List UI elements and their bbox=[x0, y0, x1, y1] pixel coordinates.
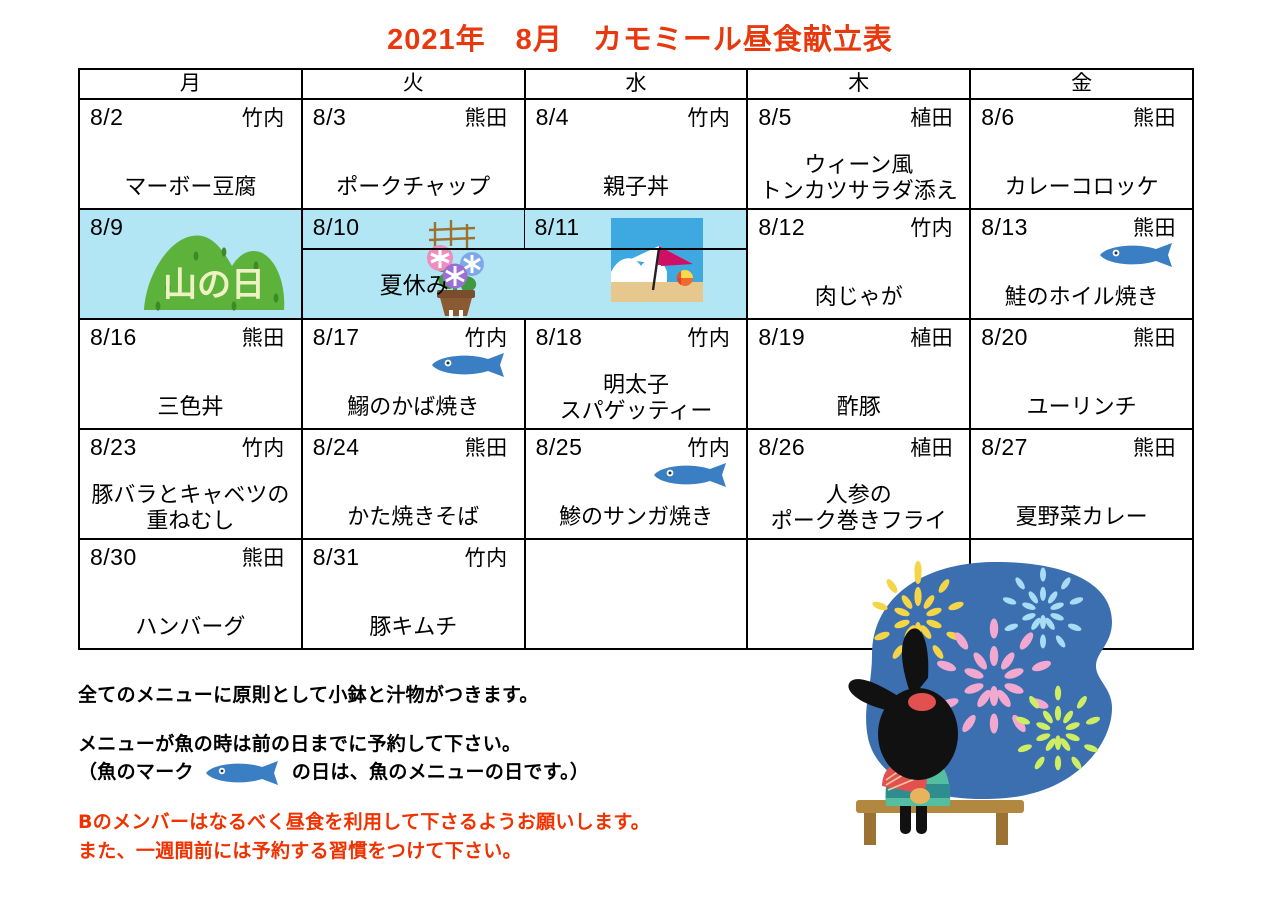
calendar-cell-menu: 肉じゃが bbox=[748, 284, 969, 310]
calendar-cell-staff: 熊田 bbox=[1133, 214, 1182, 244]
calendar-cell-date: 8/10 bbox=[313, 212, 360, 242]
calendar-cell-inner: 8/13熊田 鮭のホイル焼き bbox=[971, 210, 1192, 318]
calendar-cell-menu: ハンバーグ bbox=[80, 614, 301, 640]
calendar-cell-8-30[interactable]: 8/30熊田ハンバーグ bbox=[79, 539, 302, 649]
weekday-header-tue: 火 bbox=[302, 69, 525, 99]
calendar-cell-inner: 8/24熊田かた焼きそば bbox=[303, 430, 524, 538]
calendar-cell-menu: 明太子 スパゲッティー bbox=[526, 372, 747, 424]
calendar-cell-8-19[interactable]: 8/19植田酢豚 bbox=[747, 319, 970, 429]
calendar-cell-menu: 三色丼 bbox=[80, 394, 301, 420]
calendar-cell-header: 8/12竹内 bbox=[758, 212, 959, 244]
calendar-cell-inner: 8/18竹内明太子 スパゲッティー bbox=[526, 320, 747, 428]
calendar-cell-inner: 8/2竹内マーボー豆腐 bbox=[80, 100, 301, 208]
calendar-cell-date: 8/5 bbox=[758, 102, 791, 132]
mountain-day-icon: 山の日 bbox=[138, 222, 290, 314]
fish-icon bbox=[1094, 242, 1180, 268]
calendar-cell-8-16[interactable]: 8/16熊田三色丼 bbox=[79, 319, 302, 429]
calendar-cell-date: 8/31 bbox=[313, 542, 360, 572]
calendar-cell-header: 8/13熊田 bbox=[981, 212, 1182, 244]
note-red-line-1: Bのメンバーはなるべく昼食を利用して下さるようお願いします。 bbox=[78, 808, 818, 837]
notes-red-section: Bのメンバーはなるべく昼食を利用して下さるようお願いします。 また、一週間前には… bbox=[78, 808, 818, 867]
rabbit-fireworks-illustration bbox=[800, 548, 1200, 878]
calendar-cell-empty bbox=[525, 539, 748, 649]
calendar-cell-inner: 8/26植田人参の ポーク巻きフライ bbox=[748, 430, 969, 538]
calendar-week-row: 8/23竹内豚バラとキャベツの 重ねむし8/24熊田かた焼きそば8/25竹内 鯵… bbox=[79, 429, 1193, 539]
calendar-cell-8-6[interactable]: 8/6熊田カレーコロッケ bbox=[970, 99, 1193, 209]
calendar-cell-menu: 親子丼 bbox=[526, 174, 747, 200]
calendar-cell-8-23[interactable]: 8/23竹内豚バラとキャベツの 重ねむし bbox=[79, 429, 302, 539]
calendar-cell-staff: 植田 bbox=[910, 324, 959, 354]
calendar-cell-staff: 竹内 bbox=[687, 104, 736, 134]
calendar-cell-header: 8/5植田 bbox=[758, 102, 959, 134]
calendar-cell-header: 8/18竹内 bbox=[536, 322, 737, 354]
calendar-cell-menu: ユーリンチ bbox=[971, 394, 1192, 420]
calendar-cell-header: 8/30熊田 bbox=[90, 542, 291, 574]
calendar-cell-inner: 8/19植田酢豚 bbox=[748, 320, 969, 428]
note-line-2: メニューが魚の時は前の日までに予約して下さい。 bbox=[78, 730, 778, 759]
note-red-line-2: また、一週間前には予約する習慣をつけて下さい。 bbox=[78, 837, 818, 866]
calendar-cell-staff: 熊田 bbox=[465, 434, 514, 464]
calendar-cell-inner: 8/25竹内 鯵のサンガ焼き bbox=[526, 430, 747, 538]
calendar-cell-staff: 熊田 bbox=[242, 544, 291, 574]
calendar-cell-header: 8/3熊田 bbox=[313, 102, 514, 134]
calendar-cell-header: 8/26植田 bbox=[758, 432, 959, 464]
weekday-header-thu: 木 bbox=[747, 69, 970, 99]
calendar-cell-inner: 8/9 山の日 bbox=[80, 210, 301, 318]
calendar-cell-staff: 竹内 bbox=[910, 214, 959, 244]
calendar-week-row: 8/9 山の日 8/10 夏休み8/11 bbox=[79, 209, 1193, 319]
calendar-cell-header: 8/16熊田 bbox=[90, 322, 291, 354]
calendar-cell-8-10[interactable]: 8/10 夏休み bbox=[302, 209, 525, 319]
notes-section: 全てのメニューに原則として小鉢と汁物がつきます。 メニューが魚の時は前の日までに… bbox=[78, 681, 778, 807]
note-fish-reservation: メニューが魚の時は前の日までに予約して下さい。 （魚のマーク の日は、魚のメニュ… bbox=[78, 730, 778, 787]
calendar-cell-date: 8/3 bbox=[313, 102, 346, 132]
calendar-cell-8-31[interactable]: 8/31竹内豚キムチ bbox=[302, 539, 525, 649]
calendar-cell-staff: 熊田 bbox=[1133, 104, 1182, 134]
calendar-cell-inner: 8/16熊田三色丼 bbox=[80, 320, 301, 428]
calendar-cell-header: 8/23竹内 bbox=[90, 432, 291, 464]
calendar-cell-inner: 8/5植田ウィーン風 トンカツサラダ添え bbox=[748, 100, 969, 208]
calendar-cell-8-20[interactable]: 8/20熊田ユーリンチ bbox=[970, 319, 1193, 429]
calendar-cell-menu: 鮭のホイル焼き bbox=[971, 284, 1192, 310]
note-line-1: 全てのメニューに原則として小鉢と汁物がつきます。 bbox=[78, 681, 778, 710]
calendar-cell-8-24[interactable]: 8/24熊田かた焼きそば bbox=[302, 429, 525, 539]
calendar-cell-staff: 植田 bbox=[910, 434, 959, 464]
calendar-cell-inner: 8/12竹内肉じゃが bbox=[748, 210, 969, 318]
calendar-cell-inner: 8/3熊田ポークチャップ bbox=[303, 100, 524, 208]
calendar-cell-staff: 植田 bbox=[910, 104, 959, 134]
calendar-cell-header: 8/2竹内 bbox=[90, 102, 291, 134]
fish-icon bbox=[200, 760, 286, 786]
calendar-cell-8-2[interactable]: 8/2竹内マーボー豆腐 bbox=[79, 99, 302, 209]
calendar-cell-header: 8/19植田 bbox=[758, 322, 959, 354]
weekday-header-mon: 月 bbox=[79, 69, 302, 99]
calendar-cell-staff: 竹内 bbox=[242, 104, 291, 134]
calendar-cell-date: 8/13 bbox=[981, 212, 1028, 242]
calendar-cell-8-25[interactable]: 8/25竹内 鯵のサンガ焼き bbox=[525, 429, 748, 539]
note-line-3: （魚のマーク の日は、魚のメニューの日です。） bbox=[78, 758, 778, 787]
calendar-week-row: 8/2竹内マーボー豆腐8/3熊田ポークチャップ8/4竹内親子丼8/5植田ウィーン… bbox=[79, 99, 1193, 209]
calendar-cell-inner: 8/27熊田夏野菜カレー bbox=[971, 430, 1192, 538]
note-line-3-before: （魚のマーク bbox=[78, 761, 194, 783]
calendar-cell-date: 8/11 bbox=[535, 212, 580, 242]
calendar-cell-date: 8/23 bbox=[90, 432, 137, 462]
calendar-cell-8-3[interactable]: 8/3熊田ポークチャップ bbox=[302, 99, 525, 209]
merged-cell-rule bbox=[303, 248, 525, 250]
calendar-cell-header: 8/20熊田 bbox=[981, 322, 1182, 354]
calendar-cell-menu: 鰯のかば焼き bbox=[303, 394, 524, 420]
calendar-cell-staff: 竹内 bbox=[687, 434, 736, 464]
calendar-cell-8-4[interactable]: 8/4竹内親子丼 bbox=[525, 99, 748, 209]
calendar-cell-header: 8/31竹内 bbox=[313, 542, 514, 574]
calendar-week-row: 8/16熊田三色丼8/17竹内 鰯のかば焼き8/18竹内明太子 スパゲッティー8… bbox=[79, 319, 1193, 429]
fish-icon bbox=[426, 352, 512, 378]
calendar-cell-inner: 8/11 bbox=[525, 210, 747, 318]
calendar-cell-date: 8/26 bbox=[758, 432, 805, 462]
calendar-cell-8-5[interactable]: 8/5植田ウィーン風 トンカツサラダ添え bbox=[747, 99, 970, 209]
fish-icon bbox=[648, 462, 734, 488]
calendar-cell-staff: 竹内 bbox=[687, 324, 736, 354]
beach-parasol-icon bbox=[609, 216, 705, 304]
calendar-cell-menu: 夏野菜カレー bbox=[971, 504, 1192, 530]
calendar-cell-inner: 8/4竹内親子丼 bbox=[526, 100, 747, 208]
calendar-cell-inner: 8/20熊田ユーリンチ bbox=[971, 320, 1192, 428]
calendar-cell-inner: 8/17竹内 鰯のかば焼き bbox=[303, 320, 524, 428]
note-line-3-after: の日は、魚のメニューの日です。） bbox=[292, 761, 589, 783]
calendar-cell-menu: 豚キムチ bbox=[303, 614, 524, 640]
calendar-cell-8-9[interactable]: 8/9 山の日 bbox=[79, 209, 302, 319]
calendar-cell-inner: 8/23竹内豚バラとキャベツの 重ねむし bbox=[80, 430, 301, 538]
calendar-cell-staff: 熊田 bbox=[242, 324, 291, 354]
calendar-cell-menu: ポークチャップ bbox=[303, 174, 524, 200]
calendar-cell-menu: 鯵のサンガ焼き bbox=[526, 504, 747, 530]
calendar-cell-inner: 8/6熊田カレーコロッケ bbox=[971, 100, 1192, 208]
calendar-cell-staff: 熊田 bbox=[1133, 434, 1182, 464]
note-side-dishes: 全てのメニューに原則として小鉢と汁物がつきます。 bbox=[78, 681, 778, 710]
calendar-cell-date: 8/18 bbox=[536, 322, 583, 352]
calendar-cell-header: 8/17竹内 bbox=[313, 322, 514, 354]
calendar-cell-8-18[interactable]: 8/18竹内明太子 スパゲッティー bbox=[525, 319, 748, 429]
calendar-cell-menu: 豚バラとキャベツの 重ねむし bbox=[80, 482, 301, 534]
calendar-cell-menu: 人参の ポーク巻きフライ bbox=[748, 482, 969, 534]
calendar-cell-date: 8/4 bbox=[536, 102, 569, 132]
calendar-cell-8-12[interactable]: 8/12竹内肉じゃが bbox=[747, 209, 970, 319]
weekday-header-fri: 金 bbox=[970, 69, 1193, 99]
calendar-cell-staff: 竹内 bbox=[465, 544, 514, 574]
calendar-cell-staff: 熊田 bbox=[1133, 324, 1182, 354]
calendar-cell-header: 8/24熊田 bbox=[313, 432, 514, 464]
calendar-cell-header: 8/4竹内 bbox=[536, 102, 737, 134]
weekday-header-wed: 水 bbox=[525, 69, 748, 99]
calendar-cell-menu: かた焼きそば bbox=[303, 504, 524, 530]
calendar-cell-menu: 酢豚 bbox=[748, 394, 969, 420]
calendar-cell-8-13[interactable]: 8/13熊田 鮭のホイル焼き bbox=[970, 209, 1193, 319]
calendar-cell-8-27[interactable]: 8/27熊田夏野菜カレー bbox=[970, 429, 1193, 539]
calendar-cell-staff: 熊田 bbox=[465, 104, 514, 134]
calendar-cell-staff: 竹内 bbox=[465, 324, 514, 354]
calendar-cell-inner: 8/31竹内豚キムチ bbox=[303, 540, 524, 648]
calendar-cell-date: 8/25 bbox=[536, 432, 583, 462]
calendar-cell-header: 8/6熊田 bbox=[981, 102, 1182, 134]
calendar-cell-header: 8/27熊田 bbox=[981, 432, 1182, 464]
summer-break-label: 夏休み bbox=[380, 266, 449, 300]
calendar-cell-date: 8/24 bbox=[313, 432, 360, 462]
calendar-cell-menu: カレーコロッケ bbox=[971, 174, 1192, 200]
calendar-cell-date: 8/16 bbox=[90, 322, 137, 352]
page-title: 2021年 8月 カモミール昼食献立表 bbox=[0, 16, 1280, 58]
calendar-cell-date: 8/17 bbox=[313, 322, 360, 352]
calendar-cell-staff: 竹内 bbox=[242, 434, 291, 464]
merged-cell-rule bbox=[525, 248, 747, 250]
calendar-header-row: 月 火 水 木 金 bbox=[79, 69, 1193, 99]
calendar-cell-menu: マーボー豆腐 bbox=[80, 174, 301, 200]
svg-text:山の日: 山の日 bbox=[163, 265, 265, 305]
calendar-cell-header: 8/25竹内 bbox=[536, 432, 737, 464]
calendar-cell-8-26[interactable]: 8/26植田人参の ポーク巻きフライ bbox=[747, 429, 970, 539]
calendar-cell-8-11[interactable]: 8/11 bbox=[525, 209, 748, 319]
calendar-cell-date: 8/9 bbox=[90, 212, 123, 242]
calendar-cell-date: 8/20 bbox=[981, 322, 1028, 352]
calendar-cell-date: 8/6 bbox=[981, 102, 1014, 132]
calendar-cell-menu: ウィーン風 トンカツサラダ添え bbox=[748, 152, 969, 204]
calendar-cell-date: 8/27 bbox=[981, 432, 1028, 462]
calendar-cell-date: 8/19 bbox=[758, 322, 805, 352]
calendar-cell-inner: 8/10 夏休み bbox=[303, 210, 525, 318]
calendar-cell-date: 8/2 bbox=[90, 102, 123, 132]
calendar-cell-date: 8/12 bbox=[758, 212, 805, 242]
calendar-cell-inner: 8/30熊田ハンバーグ bbox=[80, 540, 301, 648]
calendar-cell-8-17[interactable]: 8/17竹内 鰯のかば焼き bbox=[302, 319, 525, 429]
calendar-cell-date: 8/30 bbox=[90, 542, 137, 572]
